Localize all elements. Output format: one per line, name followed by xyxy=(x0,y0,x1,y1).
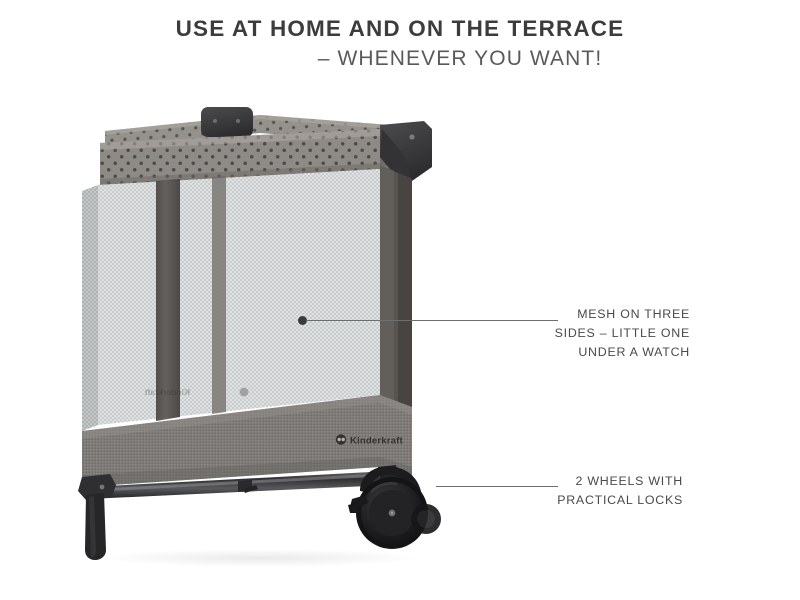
callout-mesh-text: MESH ON THREE SIDES – LITTLE ONE UNDER A… xyxy=(555,305,690,362)
callout-wheels: 2 WHEELS WITH PRACTICAL LOCKS xyxy=(430,470,700,520)
callout-mesh-line-1: MESH ON THREE xyxy=(555,305,690,324)
left-leg xyxy=(78,474,116,560)
callout-mesh: MESH ON THREE SIDES – LITTLE ONE UNDER A… xyxy=(290,296,710,368)
callout-wheels-leader-line xyxy=(436,486,558,487)
callout-wheels-line-1: 2 WHEELS WITH xyxy=(557,472,683,491)
headline-line-2: – WHENEVER YOU WANT! xyxy=(0,47,800,72)
callout-mesh-line-2: SIDES – LITTLE ONE xyxy=(555,324,690,343)
corner-post-left xyxy=(156,179,180,421)
callout-mesh-line-3: UNDER A WATCH xyxy=(555,343,690,362)
callout-mesh-leader-line xyxy=(306,320,558,321)
page-title: USE AT HOME AND ON THE TERRACE – WHENEVE… xyxy=(0,16,800,71)
svg-text:Kinderkraft: Kinderkraft xyxy=(350,436,404,447)
callout-wheels-line-2: PRACTICAL LOCKS xyxy=(557,491,683,510)
center-lock-clip xyxy=(201,107,253,137)
product-feature-slide: USE AT HOME AND ON THE TERRACE – WHENEVE… xyxy=(0,0,800,600)
svg-text:Kinderkraft: Kinderkraft xyxy=(144,387,190,397)
headline-line-1: USE AT HOME AND ON THE TERRACE xyxy=(0,16,800,43)
callout-wheels-text: 2 WHEELS WITH PRACTICAL LOCKS xyxy=(557,472,683,510)
corner-post-mid xyxy=(212,176,226,414)
